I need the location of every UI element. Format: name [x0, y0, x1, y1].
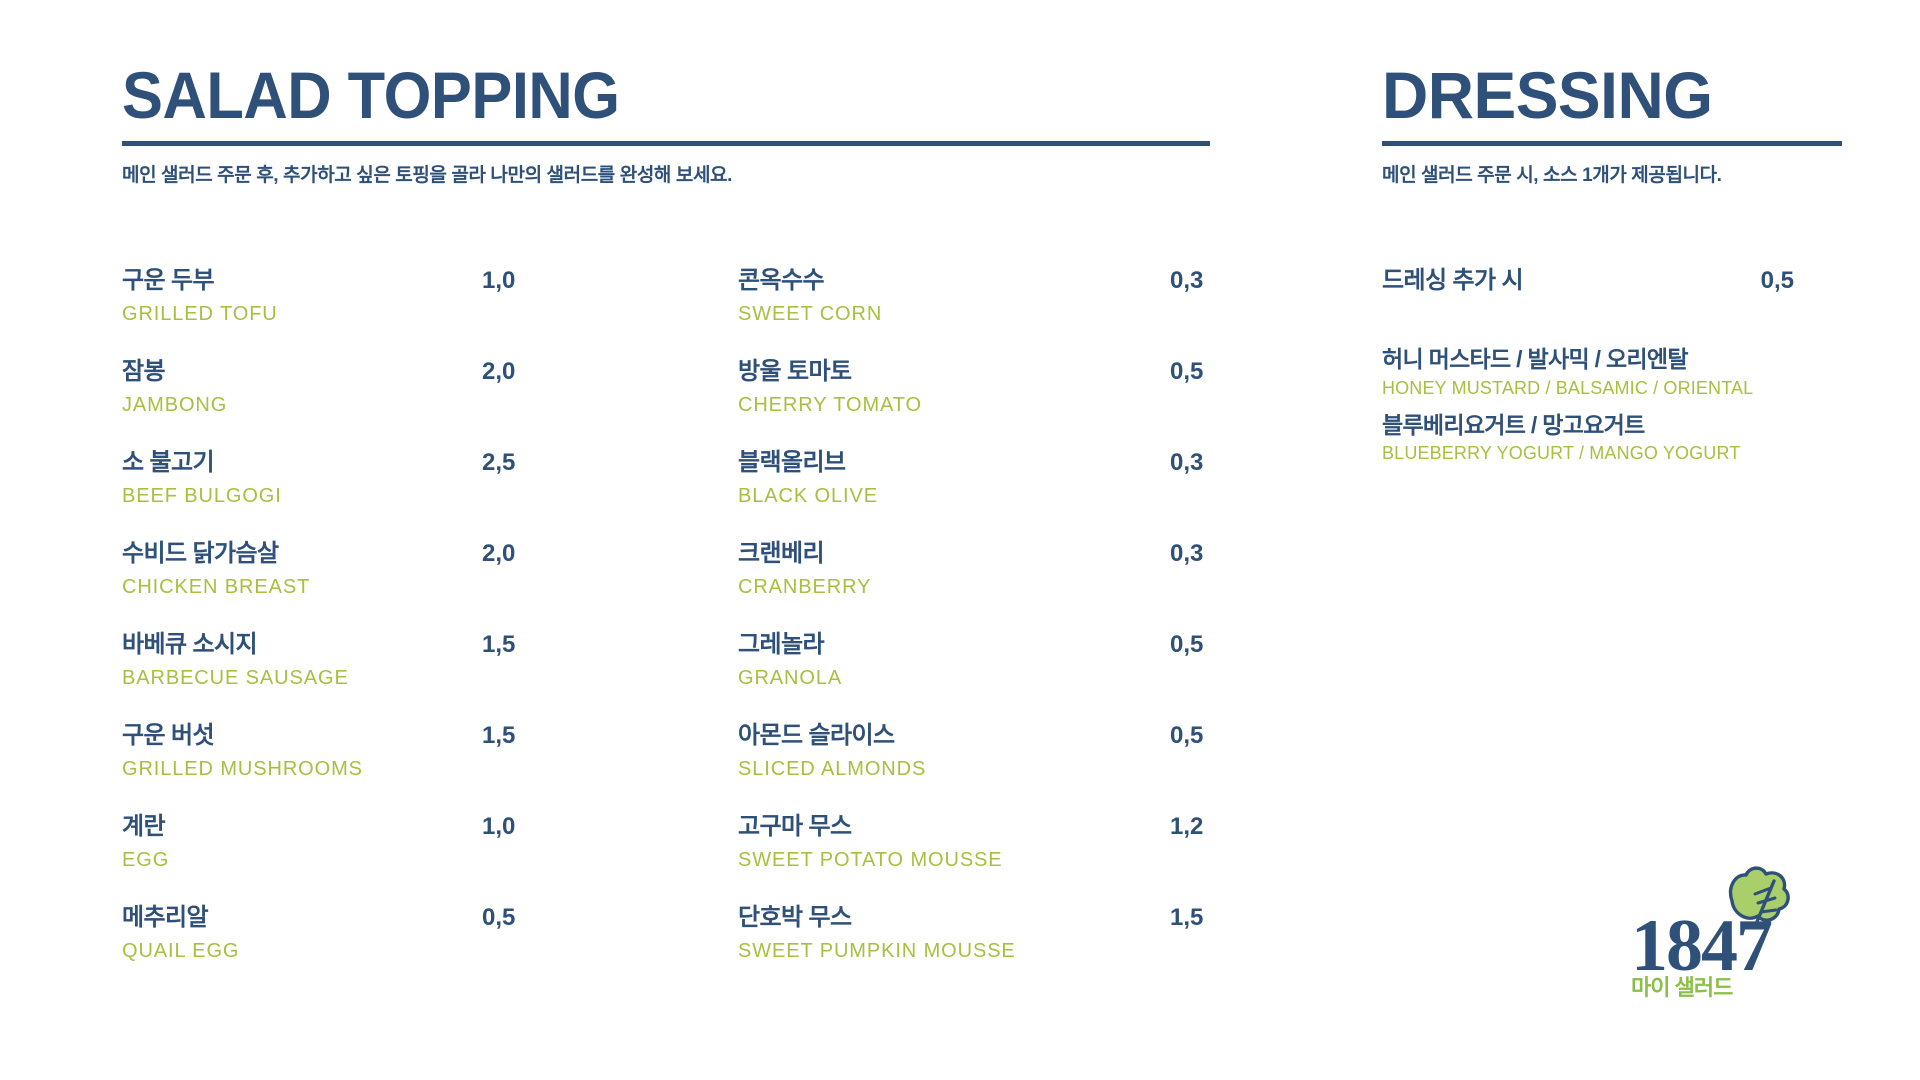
menu-item-head: 크랜베리 0,3 [738, 541, 1222, 567]
salad-topping-title: SALAD TOPPING [122, 64, 1136, 127]
item-price: 0,5 [482, 905, 534, 931]
item-name-en: SWEET POTATO MOUSSE [738, 849, 1222, 871]
menu-item: 그레놀라 0,5 GRANOLA [738, 632, 1222, 723]
menu-item: 계란 1,0 EGG [122, 814, 606, 905]
item-price: 1,0 [482, 814, 534, 840]
item-name-en: BARBECUE SAUSAGE [122, 667, 606, 689]
item-name-ko: 단호박 무스 [738, 905, 851, 931]
dressing-title: DRESSING [1382, 64, 1830, 127]
menu-item-head: 계란 1,0 [122, 814, 606, 840]
dressing-group-en: HONEY MUSTARD / BALSAMIC / ORIENTAL [1382, 378, 1852, 399]
menu-item-head: 수비드 닭가슴살 2,0 [122, 541, 606, 567]
item-price: 1,5 [1170, 905, 1222, 931]
item-name-en: BLACK OLIVE [738, 485, 1222, 507]
item-name-en: GRANOLA [738, 667, 1222, 689]
item-price: 0,5 [1170, 632, 1222, 658]
menu-item-head: 소 불고기 2,5 [122, 450, 606, 476]
menu-item: 잠봉 2,0 JAMBONG [122, 359, 606, 450]
menu-item-head: 단호박 무스 1,5 [738, 905, 1222, 931]
menu-item: 블랙올리브 0,3 BLACK OLIVE [738, 450, 1222, 541]
item-name-en: QUAIL EGG [122, 940, 606, 962]
menu-item: 방울 토마토 0,5 CHERRY TOMATO [738, 359, 1222, 450]
menu-item: 구운 두부 1,0 GRILLED TOFU [122, 268, 606, 359]
item-name-ko: 구운 버섯 [122, 723, 214, 749]
menu-item-head: 바베큐 소시지 1,5 [122, 632, 606, 658]
menu-item: 수비드 닭가슴살 2,0 CHICKEN BREAST [122, 541, 606, 632]
item-name-ko: 메추리알 [122, 905, 208, 931]
item-price: 0,5 [1170, 723, 1222, 749]
item-price: 2,0 [482, 359, 534, 385]
item-name-ko: 고구마 무스 [738, 814, 851, 840]
item-name-en: BEEF BULGOGI [122, 485, 606, 507]
item-name-en: JAMBONG [122, 394, 606, 416]
item-name-ko: 바베큐 소시지 [122, 632, 257, 658]
menu-item-head: 메추리알 0,5 [122, 905, 606, 931]
dressing-extra-label: 드레싱 추가 시 [1382, 268, 1523, 294]
dressing-section: DRESSING 메인 샐러드 주문 시, 소스 1개가 제공됩니다. [1382, 64, 1844, 187]
topping-column-a: 구운 두부 1,0 GRILLED TOFU 잠봉 2,0 JAMBONG 소 … [122, 268, 606, 996]
item-name-ko: 수비드 닭가슴살 [122, 541, 278, 567]
menu-item: 단호박 무스 1,5 SWEET PUMPKIN MOUSSE [738, 905, 1222, 996]
topping-column-b: 콘옥수수 0,3 SWEET CORN 방울 토마토 0,5 CHERRY TO… [738, 268, 1222, 996]
item-price: 0,3 [1170, 268, 1222, 294]
menu-item-head: 블랙올리브 0,3 [738, 450, 1222, 476]
item-price: 0,3 [1170, 450, 1222, 476]
dressing-title-rule [1382, 141, 1842, 146]
menu-item: 아몬드 슬라이스 0,5 SLICED ALMONDS [738, 723, 1222, 814]
menu-item-head: 잠봉 2,0 [122, 359, 606, 385]
item-price: 1,2 [1170, 814, 1222, 840]
item-name-en: SLICED ALMONDS [738, 758, 1222, 780]
topping-items-area: 구운 두부 1,0 GRILLED TOFU 잠봉 2,0 JAMBONG 소 … [122, 268, 1222, 996]
dressing-extra-row: 드레싱 추가 시 0,5 [1382, 268, 1852, 294]
item-name-ko: 아몬드 슬라이스 [738, 723, 894, 749]
item-price: 2,0 [482, 541, 534, 567]
menu-item: 콘옥수수 0,3 SWEET CORN [738, 268, 1222, 359]
item-name-ko: 방울 토마토 [738, 359, 851, 385]
item-name-en: GRILLED MUSHROOMS [122, 758, 606, 780]
item-price: 1,0 [482, 268, 534, 294]
item-name-en: GRILLED TOFU [122, 303, 606, 325]
menu-item-head: 구운 버섯 1,5 [122, 723, 606, 749]
menu-item: 메추리알 0,5 QUAIL EGG [122, 905, 606, 996]
item-name-ko: 잠봉 [122, 359, 165, 385]
logo-tagline: 마이 샐러드 [1631, 975, 1733, 1000]
menu-item: 소 불고기 2,5 BEEF BULGOGI [122, 450, 606, 541]
menu-board: SALAD TOPPING 메인 샐러드 주문 후, 추가하고 싶은 토핑을 골… [0, 0, 1920, 1080]
menu-item: 고구마 무스 1,2 SWEET POTATO MOUSSE [738, 814, 1222, 905]
item-name-ko: 크랜베리 [738, 541, 824, 567]
item-price: 2,5 [482, 450, 534, 476]
salad-topping-title-rule [122, 141, 1210, 146]
menu-item-head: 아몬드 슬라이스 0,5 [738, 723, 1222, 749]
item-name-ko: 소 불고기 [122, 450, 214, 476]
menu-item: 바베큐 소시지 1,5 BARBECUE SAUSAGE [122, 632, 606, 723]
menu-item-head: 콘옥수수 0,3 [738, 268, 1222, 294]
item-name-ko: 콘옥수수 [738, 268, 824, 294]
dressing-body: 드레싱 추가 시 0,5 허니 머스타드 / 발사믹 / 오리엔탈 HONEY … [1382, 268, 1852, 477]
menu-item-head: 구운 두부 1,0 [122, 268, 606, 294]
item-price: 1,5 [482, 723, 534, 749]
dressing-group: 허니 머스타드 / 발사믹 / 오리엔탈 HONEY MUSTARD / BAL… [1382, 346, 1852, 398]
dressing-group-ko: 블루베리요거트 / 망고요거트 [1382, 412, 1852, 438]
item-name-en: SWEET PUMPKIN MOUSSE [738, 940, 1222, 962]
menu-item: 크랜베리 0,3 CRANBERRY [738, 541, 1222, 632]
dressing-group-en: BLUEBERRY YOGURT / MANGO YOGURT [1382, 443, 1852, 464]
salad-topping-subtitle: 메인 샐러드 주문 후, 추가하고 싶은 토핑을 골라 나만의 샐러드를 완성해… [122, 160, 1212, 187]
item-name-ko: 그레놀라 [738, 632, 824, 658]
salad-topping-section: SALAD TOPPING 메인 샐러드 주문 후, 추가하고 싶은 토핑을 골… [122, 64, 1212, 187]
item-name-ko: 계란 [122, 814, 165, 840]
item-price: 0,5 [1170, 359, 1222, 385]
menu-item-head: 그레놀라 0,5 [738, 632, 1222, 658]
menu-item: 구운 버섯 1,5 GRILLED MUSHROOMS [122, 723, 606, 814]
dressing-group-ko: 허니 머스타드 / 발사믹 / 오리엔탈 [1382, 346, 1852, 372]
item-price: 1,5 [482, 632, 534, 658]
item-name-en: SWEET CORN [738, 303, 1222, 325]
item-name-en: CHERRY TOMATO [738, 394, 1222, 416]
menu-item-head: 방울 토마토 0,5 [738, 359, 1222, 385]
item-name-ko: 구운 두부 [122, 268, 214, 294]
item-name-en: EGG [122, 849, 606, 871]
brand-logo: 1847 마이 샐러드 [1628, 858, 1838, 1008]
item-name-en: CRANBERRY [738, 576, 1222, 598]
item-price: 0,3 [1170, 541, 1222, 567]
dressing-group: 블루베리요거트 / 망고요거트 BLUEBERRY YOGURT / MANGO… [1382, 412, 1852, 464]
dressing-groups: 허니 머스타드 / 발사믹 / 오리엔탈 HONEY MUSTARD / BAL… [1382, 346, 1852, 463]
dressing-subtitle: 메인 샐러드 주문 시, 소스 1개가 제공됩니다. [1382, 160, 1844, 187]
item-name-ko: 블랙올리브 [738, 450, 845, 476]
item-name-en: CHICKEN BREAST [122, 576, 606, 598]
dressing-extra-price: 0,5 [1761, 268, 1794, 294]
menu-item-head: 고구마 무스 1,2 [738, 814, 1222, 840]
